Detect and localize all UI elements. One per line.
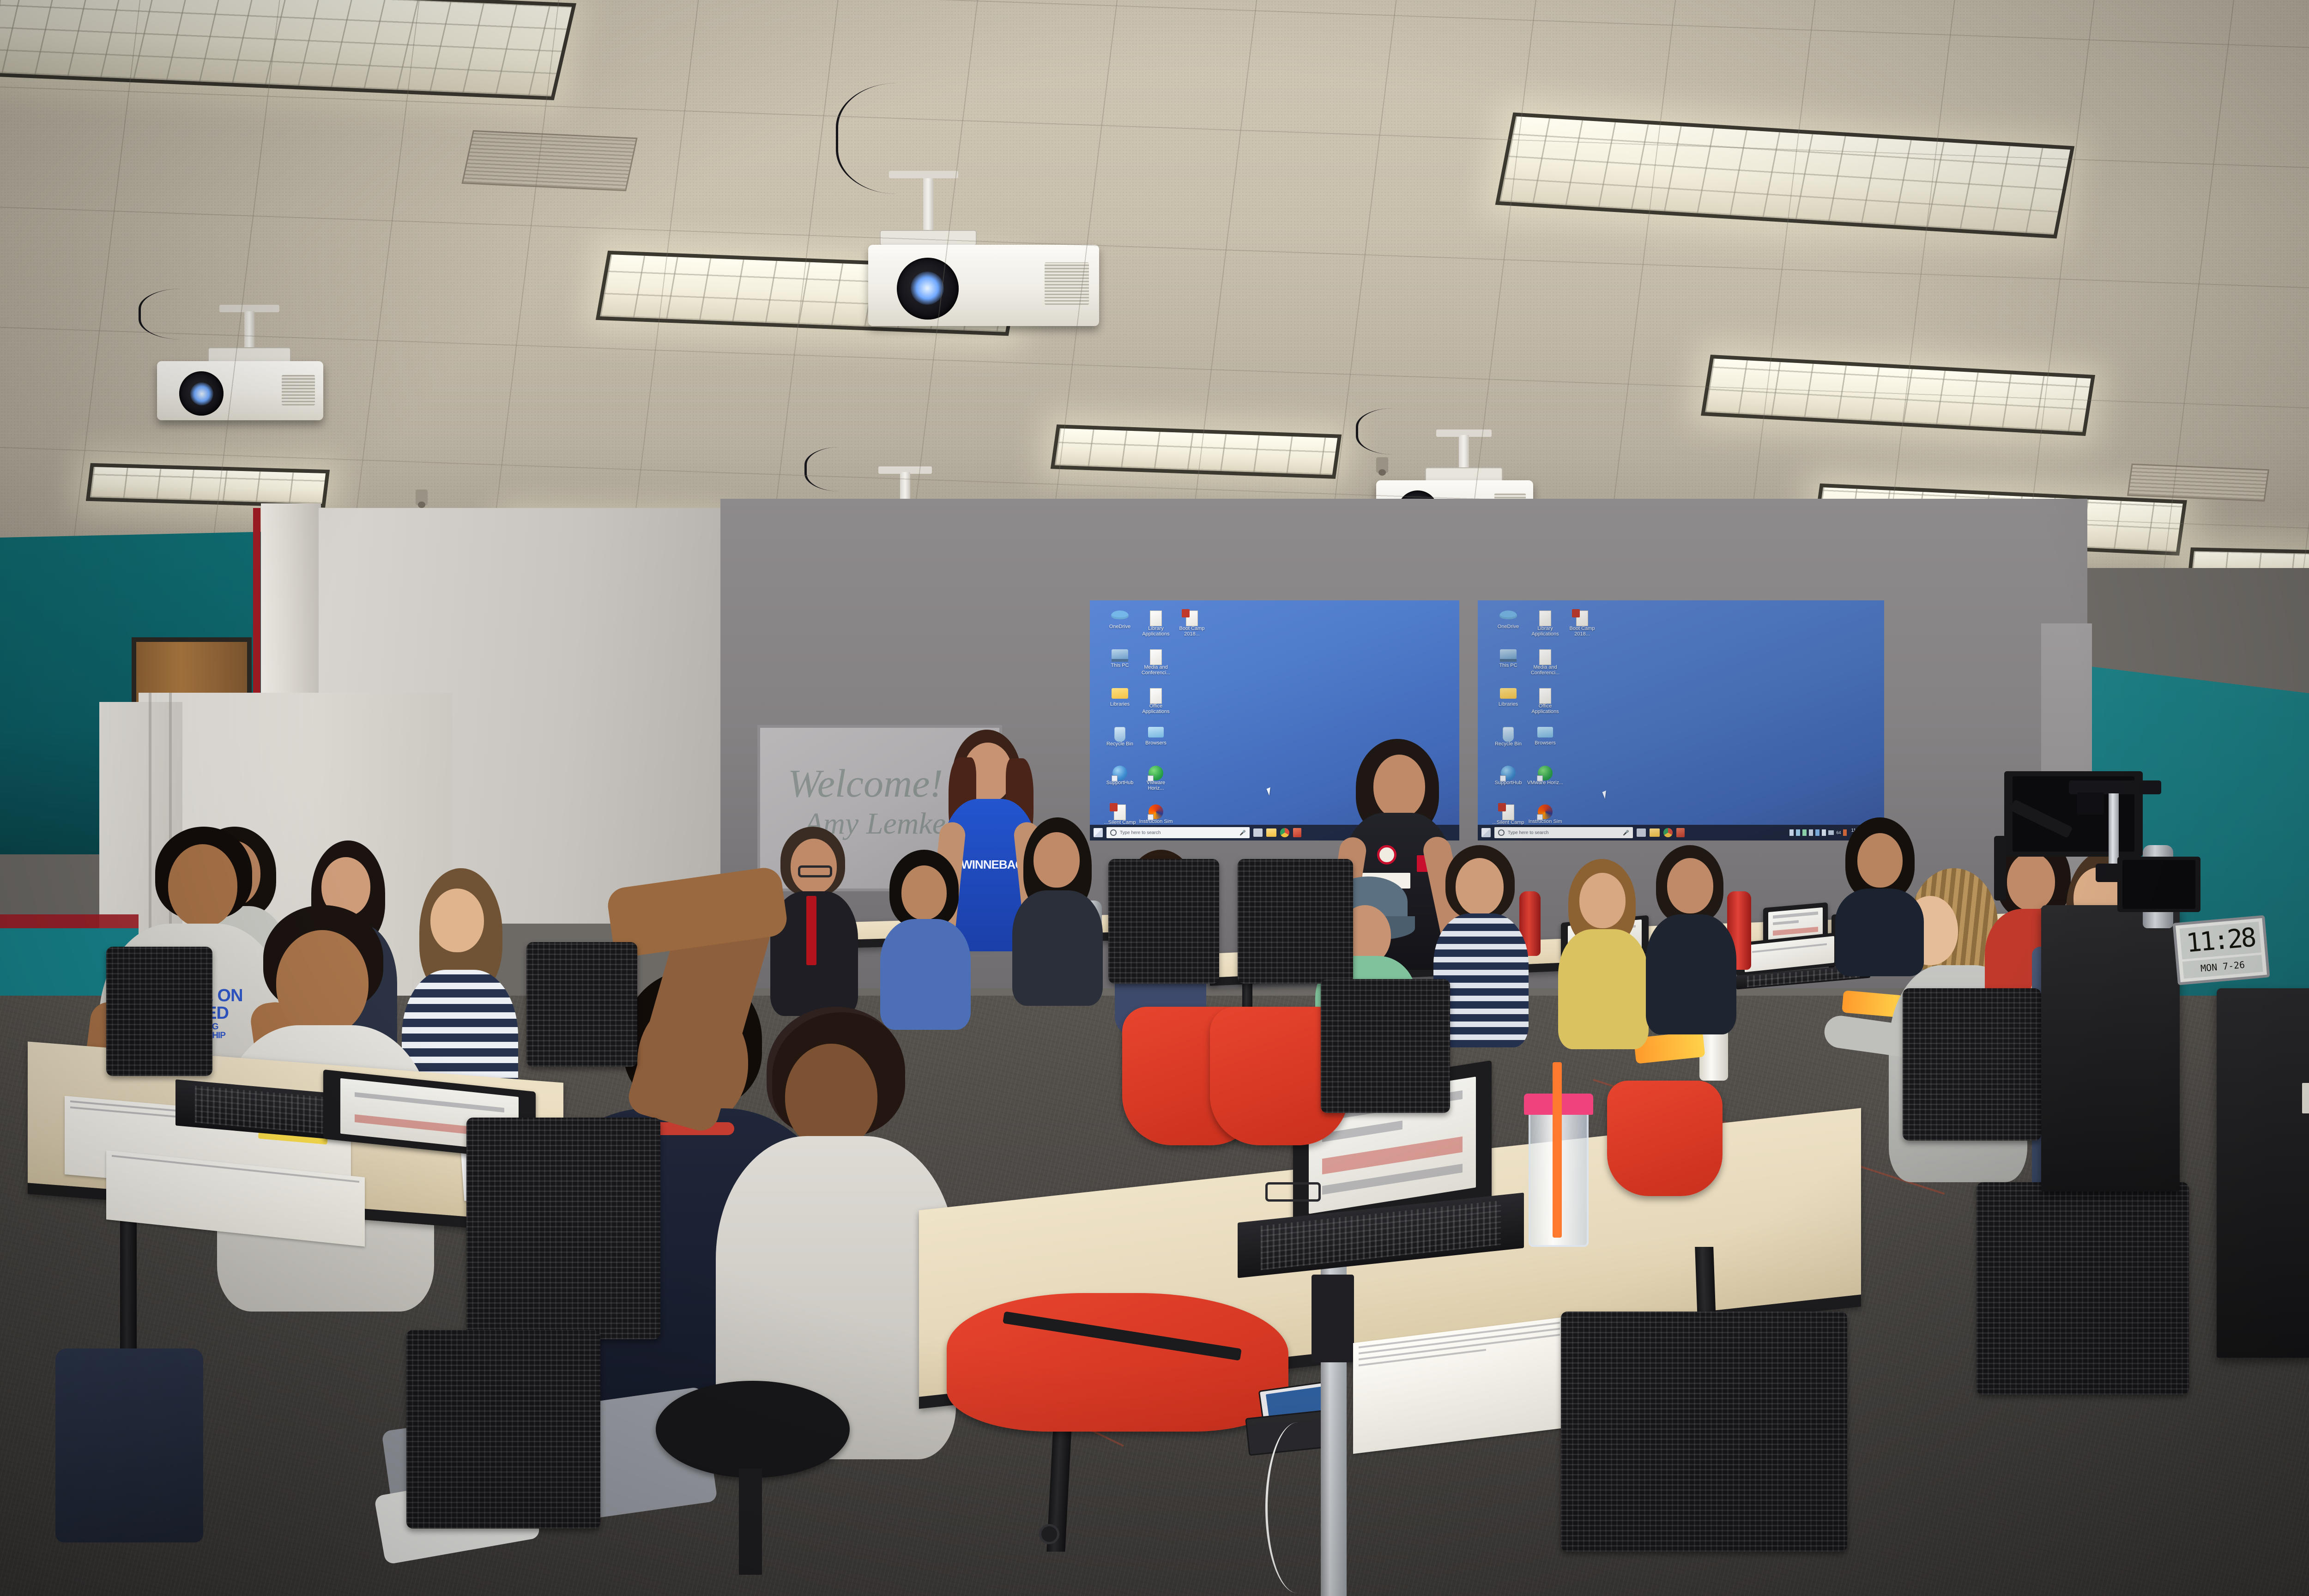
chrome-icon[interactable] [1663,828,1673,837]
chair[interactable] [1977,1182,2189,1469]
document-icon [1537,688,1553,704]
desktop-icon-browsers[interactable]: Browsers [1138,727,1174,766]
projector-power-cable [836,83,988,194]
projector-mount-yoke [208,347,291,363]
desktop-icon-libraries[interactable]: Libraries [1102,688,1138,727]
document-icon [1148,649,1164,665]
projector-mount-yoke [1425,467,1503,483]
desk-monitor [2117,857,2200,912]
clock-time-display: 11:28 [2179,922,2261,959]
red-drawstring-bag[interactable] [1607,1081,1723,1196]
chair-backrest [1238,859,1353,984]
cloud-icon [1111,611,1129,624]
mouse-pointer [1602,790,1611,799]
search-input[interactable]: Type here to search 🎤 [1106,827,1250,838]
document-icon [1148,688,1164,704]
task-view-icon[interactable] [1253,828,1263,837]
recycle-bin-icon [1112,727,1128,742]
ceiling-tile-texture [0,0,2309,568]
cloud-icon [1499,611,1517,624]
table-caster [1039,1524,1059,1544]
this-pc-icon [1500,649,1517,663]
projector-ceiling-plate [1436,429,1492,437]
ceiling-air-vent [461,130,637,191]
globe-icon [1501,766,1516,780]
desktop-icon-column-2: Library Applications Media and Conferenc… [1527,611,1564,840]
volume-icon[interactable] [1796,829,1800,836]
chair[interactable] [1108,859,1219,1011]
large-digital-clock: 11:28 MON 7-26 [2172,915,2270,985]
chair[interactable] [1561,1312,1847,1596]
torso [1835,889,1924,976]
desktop-icon-label: Boot Camp 2018... [1564,626,1601,637]
network-icon[interactable] [1802,829,1807,836]
stool-post [739,1469,762,1575]
desktop-icon-libraries[interactable]: Libraries [1490,688,1527,727]
desktop-icon-recycle-bin[interactable]: Recycle Bin [1102,727,1138,766]
backpack[interactable] [55,1348,203,1542]
person-student-seated [1639,845,1746,1039]
ceiling-projector [868,175,1127,369]
projector-mount-rod [244,311,254,349]
desktop-icon-column-3: Boot Camp 2018... [1564,611,1601,840]
person-student-seated [1829,817,1930,974]
desktop-icon-label: Media and Conferenci... [1138,665,1174,676]
head [1857,833,1903,888]
taskbar-right[interactable]: Type here to search 🎤 64 [1478,825,1884,840]
chair-backrest [1321,979,1450,1113]
chair-backrest [1108,859,1219,984]
chair[interactable] [406,1330,600,1589]
head [276,930,369,1036]
desktop-icon-label: Office Applications [1138,704,1174,714]
chair[interactable] [1903,988,2041,1173]
desktop-icon-label: Library Applications [1527,626,1564,637]
projector-ceiling-plate [878,466,932,474]
av-equipment-cart [2041,905,2180,1191]
task-view-icon[interactable] [1637,828,1646,837]
document-icon [1148,611,1164,626]
desktop-icon-grid: OneDrive This PC Libraries Recycle Bin [1490,611,1601,840]
pdf-document-icon [1500,804,1516,820]
mouse-pointer [1267,786,1275,796]
red-drawstring-bag[interactable] [947,1293,1288,1432]
projector-beam [911,272,944,305]
desktop-icon-media-conferencing[interactable]: Media and Conferenci... [1138,649,1174,688]
ceiling-light-fixture [1701,355,2095,436]
eyeglasses [798,865,832,877]
desktop-icon-supporthub[interactable]: SupportHub [1490,766,1527,804]
document-icon [1537,649,1553,665]
stool-seat [656,1381,850,1478]
desktop-icon-label: VMware Horiz... [1527,780,1563,786]
file-explorer-icon[interactable] [1266,828,1276,837]
powerpoint-icon[interactable] [1676,828,1685,837]
pdf-document-icon [1184,611,1200,626]
document-icon [1537,611,1553,626]
desktop-icon-label: Libraries [1499,702,1518,707]
bluetooth-icon[interactable] [1815,829,1819,836]
projector-power-cable [804,447,892,491]
projector-mount-rod [1459,435,1469,469]
chair[interactable] [1321,979,1450,1136]
head [1579,873,1626,928]
person-student-seated [1007,817,1108,1011]
classroom-scene: Welcome! Amy Lemke OneDrive This PC [0,0,2309,1596]
powerpoint-icon[interactable] [1293,828,1301,837]
desktop-icon-boot-camp[interactable]: Boot Camp 2018... [1174,611,1210,649]
desktop-icon-label: Browsers [1145,741,1167,746]
vmware-icon [1148,766,1163,780]
chair[interactable] [106,947,212,1099]
desktop-icon-label: This PC [1499,663,1517,669]
head [1456,858,1504,915]
desktop-icon-onedrive[interactable]: OneDrive [1490,611,1527,649]
desktop-icon-office-applications[interactable]: Office Applications [1527,688,1564,727]
whiteboard-text-line-1: Welcome! [788,760,943,806]
globe-icon [1112,766,1127,780]
fire-sprinkler [1376,457,1388,473]
desktop-icon-browsers[interactable]: Browsers [1527,727,1564,766]
desktop-icon-label: Browsers [1535,741,1556,746]
chair-backrest [1561,1312,1847,1552]
desktop-icon-label: SupportHub [1495,780,1522,786]
projector-vent [1045,262,1089,305]
folder-blue-icon [1537,727,1553,741]
microphone-icon[interactable]: 🎤 [1239,830,1246,836]
desktop-icon-column-3: Boot Camp 2018... [1174,611,1210,840]
desktop-icon-label: Boot Camp 2018... [1174,626,1210,637]
projector-power-cable [139,289,245,339]
ceiling-light-fixture [596,251,1021,336]
projector-lens [897,258,959,320]
desktop-icon-label: Library Applications [1138,626,1174,637]
projector-ceiling-plate [219,305,279,312]
monitor-arm [1994,836,2006,901]
this-pc-icon [1112,649,1128,663]
search-placeholder-text: Type here to search [1508,830,1548,835]
file-explorer-icon[interactable] [1650,828,1660,837]
cortana-circle-icon[interactable] [1498,829,1505,836]
ceiling-light-fixture [86,463,330,508]
desktop-icon-this-pc[interactable]: This PC [1102,649,1138,688]
ceiling-light-fixture [0,0,576,100]
desktop-icon-label: This PC [1111,663,1129,669]
button-pin-icon [1377,845,1396,864]
search-input[interactable]: Type here to search 🎤 [1494,827,1633,838]
projector-lens [179,371,224,416]
projector-vent [282,375,315,405]
desktop-icon-grid: OneDrive This PC Libraries Recycle Bin [1102,611,1210,840]
chair-backrest [466,1118,660,1339]
pdf-document-icon [1574,611,1590,626]
desktop-icon-boot-camp[interactable]: Boot Camp 2018... [1564,611,1601,649]
projector-mount-rod [923,178,933,232]
desktop-icon-office-applications[interactable]: Office Applications [1138,688,1174,727]
projector-power-cable [1356,408,1448,454]
chair[interactable] [526,942,637,1090]
desktop-icon-label: Recycle Bin [1106,742,1133,747]
doc-cam-column [2109,793,2119,867]
desktop-icon-vmware-horizon[interactable]: VMware Horiz... [1527,766,1564,804]
desktop-icon-onedrive[interactable]: OneDrive [1102,611,1138,649]
torso [1646,914,1736,1034]
chair-backrest [406,1330,600,1529]
desktop-icon-media-conferencing[interactable]: Media and Conferenci... [1527,649,1564,688]
folder-icon [1500,688,1517,702]
desktop-icon-label: OneDrive [1498,624,1519,630]
desktop-icon-vmware-horizon[interactable]: VMware Horiz... [1138,766,1174,804]
desktop-icon-supporthub[interactable]: SupportHub [1102,766,1138,804]
desktop-icon-recycle-bin[interactable]: Recycle Bin [1490,727,1527,766]
folder-blue-icon [1148,727,1164,741]
ceiling-light-fixture [1051,424,1342,479]
head [1034,832,1080,888]
windows-desktop-right[interactable]: OneDrive This PC Libraries Recycle Bin [1478,600,1884,840]
power-outlet-box[interactable] [1312,1275,1354,1362]
head [785,1044,877,1150]
monitor-screen [2122,860,2195,909]
drinking-straw [1553,1062,1562,1238]
ceiling-projector [152,305,346,462]
laptop-screen [1745,936,1834,972]
doc-cam-lens [2077,792,2104,815]
cortana-circle-icon[interactable] [1110,829,1117,836]
microphone-icon[interactable]: 🎤 [1623,830,1629,836]
firefox-icon [1538,804,1553,819]
desktop-icon-label: Recycle Bin [1495,742,1522,747]
projector-beam [190,382,213,405]
firefox-icon [1148,804,1163,819]
battery-icon[interactable] [1789,829,1794,836]
ceiling [0,0,2309,568]
pdf-document-icon [1112,804,1128,820]
onedrive-icon[interactable] [1822,829,1826,836]
folder-icon [1112,688,1128,702]
desktop-icon-label: Libraries [1110,702,1130,707]
projector-body [157,361,323,420]
torso [1012,890,1103,1006]
desktop-icon-library-applications[interactable]: Library Applications [1527,611,1564,649]
start-button[interactable] [1481,828,1491,837]
ceiling-light-fixture [2188,547,2309,568]
recycle-bin-icon [1500,727,1516,742]
desktop-icon-column-1: OneDrive This PC Libraries Recycle Bin [1490,611,1527,840]
desktop-icon-label: OneDrive [1109,624,1130,630]
eyeglasses [1265,1182,1321,1202]
projector-mount-yoke [880,230,977,246]
desktop-icon-label: Media and Conferenci... [1527,665,1564,676]
projector-body [868,245,1099,326]
desktop-icon-label: VMware Horiz... [1138,780,1174,791]
room-label: ESC Room 111 [2302,1083,2309,1113]
desktop-icon-label: Office Applications [1527,704,1564,714]
charging-cable [1265,1422,1330,1593]
projector-mount-rod [900,472,910,502]
head [901,865,947,920]
chair-backrest [106,947,212,1076]
chrome-icon[interactable] [1280,828,1289,837]
desktop-icon-library-applications[interactable]: Library Applications [1138,611,1174,649]
desktop-icon-column-2: Library Applications Media and Conferenc… [1138,611,1174,840]
fire-sprinkler [416,490,428,505]
desktop-icon-label: SupportHub [1106,780,1134,786]
shield-icon[interactable] [1809,829,1813,836]
storage-cabinet [2217,988,2309,1358]
chair-backrest [1977,1182,2189,1395]
projection-screen-right: OneDrive This PC Libraries Recycle Bin [1478,600,1884,840]
torso [1558,929,1649,1049]
projector-ceiling-plate [889,171,958,178]
ceiling-light-fixture [1495,112,2075,238]
head [1373,755,1425,818]
head [1667,858,1713,913]
desktop-icon-this-pc[interactable]: This PC [1490,649,1527,688]
ceiling-air-vent [2127,464,2269,502]
desktop-icon-column-1: OneDrive This PC Libraries Recycle Bin [1102,611,1138,840]
search-placeholder-text: Type here to search [1120,830,1161,835]
chair-backrest [526,942,637,1067]
stool[interactable] [656,1381,850,1584]
chair-backrest [1903,988,2041,1141]
vmware-icon [1538,766,1553,780]
